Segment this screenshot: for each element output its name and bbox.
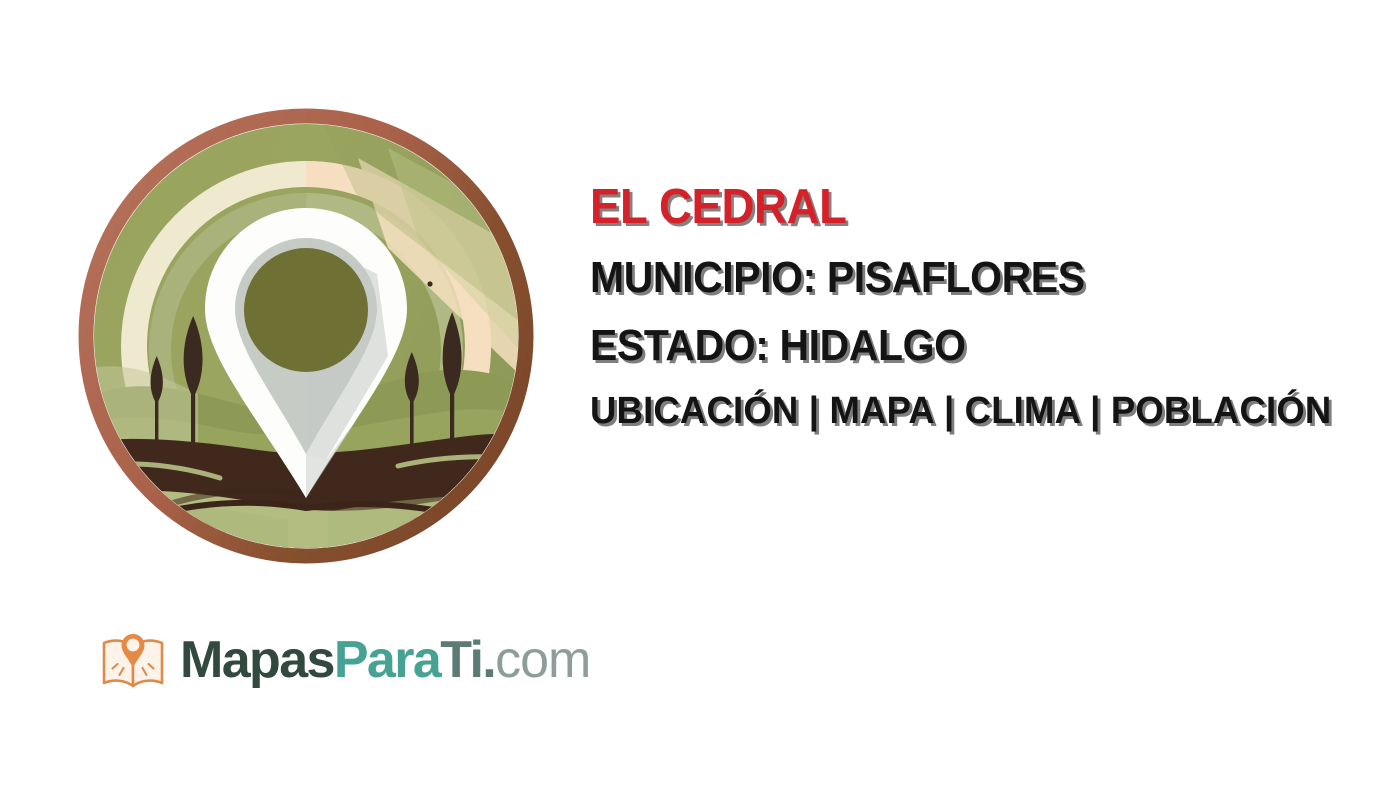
place-info-block: EL CEDRAL MUNICIPIO: PISAFLORES ESTADO: … <box>590 183 1390 430</box>
brand-word-com: com <box>495 631 590 689</box>
municipality-label: MUNICIPIO: PISAFLORES <box>590 256 1334 300</box>
topics-list: UBICACIÓN | MAPA | CLIMA | POBLACIÓN <box>590 392 1358 430</box>
brand-logo[interactable]: MapasParaTi.com <box>96 622 590 698</box>
brand-word-para: Para <box>334 631 440 689</box>
brand-wordmark: MapasParaTi.com <box>180 634 590 686</box>
brand-word-ti: Ti. <box>440 631 495 689</box>
open-book-with-map-pin-icon <box>96 623 170 697</box>
brand-word-mapas: Mapas <box>180 631 334 689</box>
state-label: ESTADO: HIDALGO <box>590 324 1334 368</box>
place-emblem-illustration <box>58 88 554 584</box>
emblem-speck <box>427 281 432 286</box>
page-title: EL CEDRAL <box>590 183 1334 232</box>
